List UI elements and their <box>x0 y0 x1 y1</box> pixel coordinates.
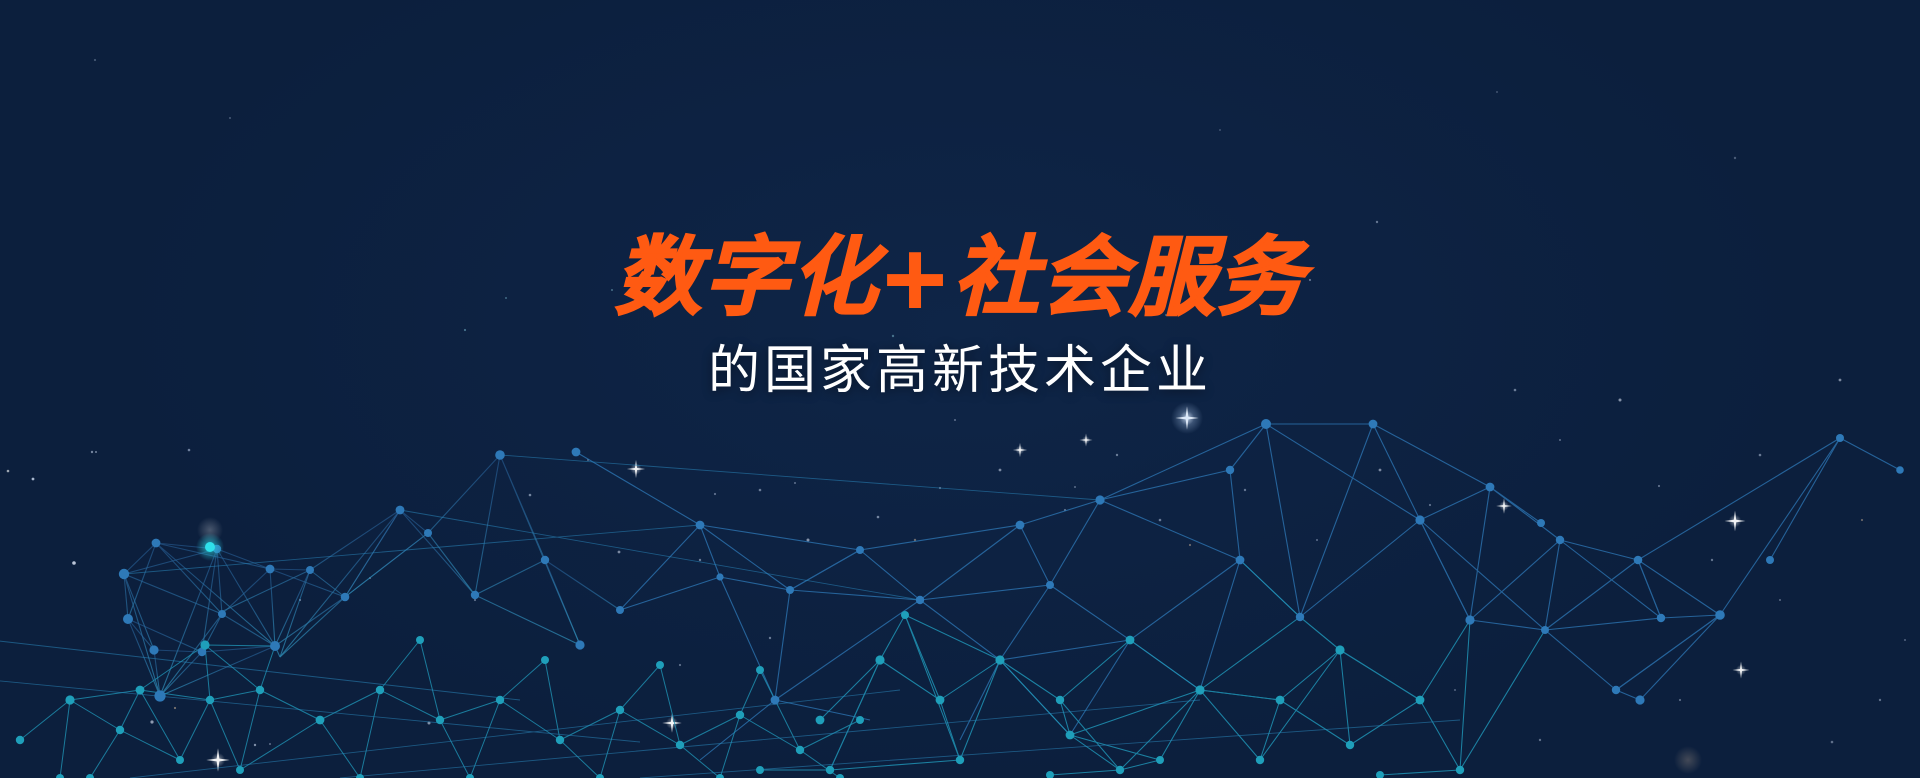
network-graphic <box>0 0 1920 778</box>
hero-banner: 数字化+社会服务 的国家高新技术企业 <box>0 0 1920 778</box>
